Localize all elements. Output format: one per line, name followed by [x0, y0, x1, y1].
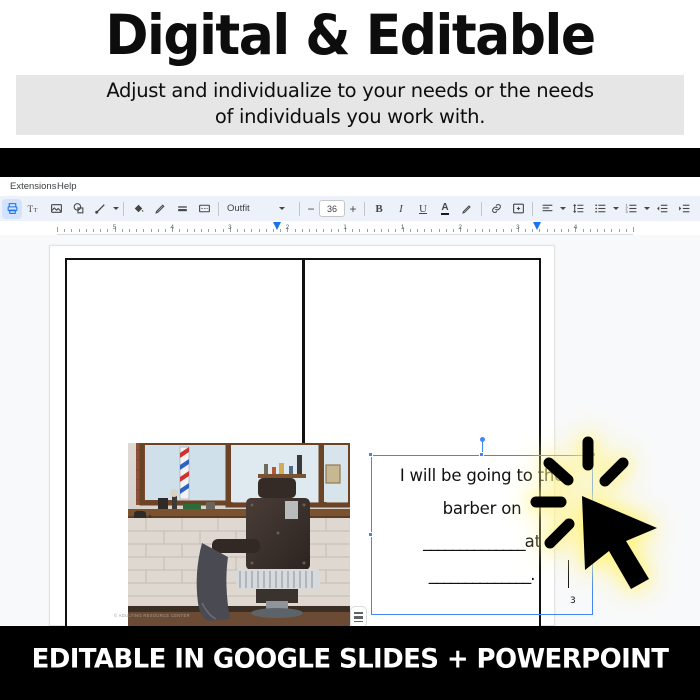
promo-title: Digital & Editable — [0, 8, 700, 63]
ruler-label: 3 — [228, 224, 232, 231]
ruler-tick — [259, 229, 260, 232]
ruler-tick — [525, 229, 526, 232]
ruler-tick — [395, 229, 396, 232]
resize-handle-top-center[interactable] — [479, 452, 484, 457]
numbered-list-caret[interactable] — [642, 199, 651, 219]
ruler-tick — [619, 229, 620, 232]
ruler-tick — [482, 229, 483, 232]
border-dash-icon[interactable] — [194, 199, 214, 219]
ruler-tick — [467, 229, 468, 232]
align-icon[interactable] — [537, 199, 557, 219]
ruler-tick — [554, 229, 555, 232]
ruler-tick — [237, 229, 238, 232]
font-size-decrease-button[interactable]: − — [303, 200, 319, 218]
promo-subtitle-line-1: Adjust and individualize to your needs o… — [16, 78, 684, 104]
font-family-select[interactable]: Outfit — [222, 199, 277, 219]
first-line-indent-marker[interactable] — [273, 222, 282, 230]
bold-label: B — [375, 203, 382, 215]
ruler-tick — [223, 229, 224, 232]
resize-handle-top-left[interactable] — [368, 452, 373, 457]
ruler-tick — [446, 229, 447, 232]
align-dropdown-caret[interactable] — [558, 199, 567, 219]
comment-icon[interactable] — [508, 199, 528, 219]
ruler-tick — [143, 229, 144, 232]
underline-label: U — [419, 203, 427, 215]
formatting-toolbar: TT — [0, 196, 700, 221]
ruler-tick — [424, 229, 425, 232]
ruler-tick — [439, 229, 440, 232]
ruler-tick — [381, 229, 382, 232]
ruler-tick — [475, 229, 476, 232]
ruler-tick — [79, 229, 80, 232]
ruler-tick — [302, 229, 303, 232]
ruler-tick — [489, 229, 490, 232]
ruler-tick — [359, 229, 360, 232]
border-weight-icon[interactable] — [172, 199, 192, 219]
rotation-handle[interactable] — [480, 437, 485, 442]
ruler-tick — [151, 229, 152, 232]
font-family-caret[interactable] — [277, 199, 286, 219]
watermark-text: © ADULTING RESOURCE CENTER — [114, 613, 190, 618]
bulleted-list-icon[interactable] — [590, 199, 610, 219]
line-icon[interactable] — [90, 199, 110, 219]
promo-subtitle-line-2: of individuals you work with. — [16, 104, 684, 130]
ruler-tick — [597, 229, 598, 232]
menu-item-extensions[interactable]: Extensions — [7, 179, 59, 194]
ruler-tick — [338, 229, 339, 232]
ruler-label: 2 — [286, 224, 290, 231]
ruler-tick-major — [57, 227, 58, 232]
ruler-tick — [367, 229, 368, 232]
ruler-tick — [352, 229, 353, 232]
ruler-tick — [323, 229, 324, 232]
menu-bar: Extensions Help — [0, 177, 700, 196]
ruler-label: 5 — [113, 224, 117, 231]
ruler-tick — [64, 229, 65, 232]
svg-text:T: T — [28, 204, 34, 214]
italic-button[interactable]: I — [391, 199, 411, 219]
menu-item-help[interactable]: Help — [54, 179, 80, 194]
ruler-tick — [136, 229, 137, 232]
barber-shop-photo[interactable] — [128, 443, 350, 626]
toolbar-divider — [218, 202, 219, 216]
ruler-tick — [295, 229, 296, 232]
ruler-tick — [208, 229, 209, 232]
toolbar-divider — [299, 202, 300, 216]
ruler-tick — [93, 229, 94, 232]
click-cursor-graphic — [525, 425, 685, 600]
textbox-blank-2: ______________ — [429, 565, 531, 584]
fill-color-icon[interactable] — [128, 199, 148, 219]
ruler-tick — [374, 229, 375, 232]
italic-label: I — [399, 203, 403, 215]
ruler-tick — [122, 229, 123, 232]
ruler-tick — [568, 229, 569, 232]
ruler-tick — [496, 229, 497, 232]
ruler-tick — [244, 229, 245, 232]
font-size-increase-button[interactable]: + — [345, 200, 361, 218]
text-color-button[interactable]: A — [435, 199, 455, 219]
ruler-label: 4 — [170, 224, 174, 231]
svg-text:3: 3 — [625, 210, 627, 214]
ruler-tick — [316, 229, 317, 232]
promo-subtitle: Adjust and individualize to your needs o… — [16, 78, 684, 130]
svg-text:T: T — [33, 207, 37, 214]
ruler-tick — [71, 229, 72, 232]
ruler-tick — [100, 229, 101, 232]
textbox-blank-1: ______________ — [423, 532, 525, 551]
decrease-indent-icon[interactable] — [652, 199, 672, 219]
ruler-tick — [611, 229, 612, 232]
ruler-tick — [561, 229, 562, 232]
ruler-tick — [309, 229, 310, 232]
highlight-icon[interactable] — [457, 199, 477, 219]
increase-indent-icon[interactable] — [674, 199, 694, 219]
font-size-input[interactable]: 36 — [319, 200, 345, 217]
toolbar-divider — [532, 202, 533, 216]
ruler-tick — [388, 229, 389, 232]
ruler-tick — [187, 229, 188, 232]
font-family-value: Outfit — [227, 203, 250, 214]
ruler-label: 1 — [343, 224, 347, 231]
ruler-tick — [431, 229, 432, 232]
ruler-tick — [590, 229, 591, 232]
ruler-tick — [626, 229, 627, 232]
ruler-tick — [417, 229, 418, 232]
bold-button[interactable]: B — [369, 199, 389, 219]
horizontal-ruler[interactable]: 543211234 — [0, 221, 700, 235]
shape-icon[interactable] — [68, 199, 88, 219]
ruler-tick — [583, 229, 584, 232]
ruler-tick — [503, 229, 504, 232]
text-box-icon[interactable]: TT — [24, 199, 44, 219]
ruler-tick — [179, 229, 180, 232]
bulleted-list-caret[interactable] — [611, 199, 620, 219]
ruler-tick — [158, 229, 159, 232]
ruler-tick — [266, 229, 267, 232]
resize-handle-middle-left[interactable] — [368, 532, 373, 537]
text-color-label: A — [441, 203, 448, 215]
underline-button[interactable]: U — [413, 199, 433, 219]
ruler-label: 1 — [401, 224, 405, 231]
link-icon[interactable] — [486, 199, 506, 219]
handle-line-top — [354, 612, 363, 613]
image-icon[interactable] — [46, 199, 66, 219]
numbered-list-icon[interactable]: 123 — [621, 199, 641, 219]
bottom-banner-text: EDITABLE IN GOOGLE SLIDES + POWERPOINT — [0, 643, 700, 674]
promo-page: Digital & Editable Adjust and individual… — [0, 0, 700, 700]
ruler-tick — [86, 229, 87, 232]
line-dropdown-caret[interactable] — [111, 199, 120, 219]
ruler-tick-major — [633, 227, 634, 232]
top-black-mask-bar — [0, 148, 700, 177]
ruler-tick — [201, 229, 202, 232]
toolbar-divider — [364, 202, 365, 216]
ruler-tick — [194, 229, 195, 232]
ruler-tick — [547, 229, 548, 232]
ruler-tick — [129, 229, 130, 232]
ruler-tick — [410, 229, 411, 232]
clear-formatting-icon[interactable] — [696, 199, 700, 219]
right-indent-marker[interactable] — [533, 222, 542, 230]
ruler-label: 2 — [458, 224, 462, 231]
gridline-handle[interactable] — [350, 606, 367, 626]
handle-line-mid — [354, 616, 363, 619]
ruler-label: 3 — [516, 224, 520, 231]
ruler-tick — [604, 229, 605, 232]
ruler-tick — [251, 229, 252, 232]
ruler-tick — [165, 229, 166, 232]
ruler-track: 543211234 — [57, 225, 633, 234]
ruler-tick — [215, 229, 216, 232]
promo-header: Digital & Editable Adjust and individual… — [0, 0, 700, 150]
ruler-label: 4 — [574, 224, 578, 231]
handle-line-bottom — [354, 621, 363, 622]
ruler-tick — [511, 229, 512, 232]
ruler-tick — [107, 229, 108, 232]
line-spacing-icon[interactable] — [568, 199, 588, 219]
toolbar-divider — [123, 202, 124, 216]
ruler-tick — [453, 229, 454, 232]
print-icon[interactable] — [2, 199, 22, 219]
border-color-icon[interactable] — [150, 199, 170, 219]
ruler-tick — [331, 229, 332, 232]
toolbar-divider — [481, 202, 482, 216]
slide-page[interactable]: I will be going to the barber on _______… — [49, 245, 555, 626]
